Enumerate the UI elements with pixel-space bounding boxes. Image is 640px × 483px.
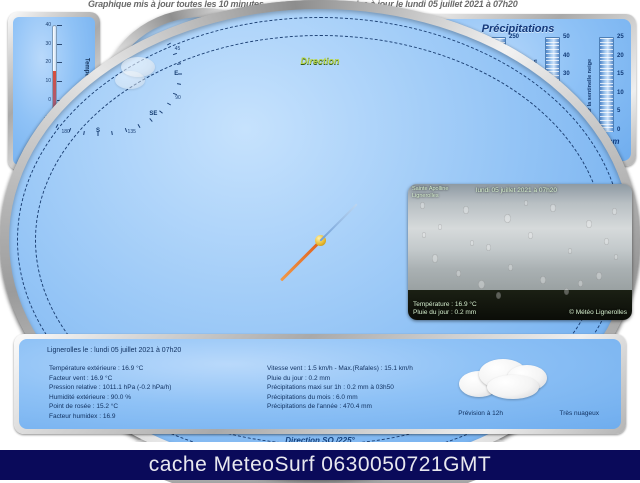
rain-drop: [463, 206, 469, 214]
cloud-icon: [487, 375, 539, 399]
rain-drop: [524, 200, 528, 206]
summary-line: Facteur vent : 16.9 °C: [49, 375, 112, 382]
precipitation-tick-label: 250: [509, 34, 519, 40]
rain-drop: [528, 232, 533, 239]
webcam-image[interactable]: Sainte Apolline Lignerolles lundi 05 jui…: [408, 184, 632, 320]
rain-drop: [612, 208, 617, 215]
forecast-cloud-icon: [459, 357, 549, 401]
precipitation-bar-track: [599, 37, 614, 132]
summary-line: Facteur humidex : 16.9: [49, 413, 115, 420]
cloud-icon: [75, 23, 102, 39]
rain-drop: [508, 264, 513, 271]
footer-text: cache MeteoSurf 0630050721GMT: [0, 453, 640, 477]
wind-title-right: Direction: [9, 56, 631, 66]
footer-spacer: [0, 442, 640, 450]
precipitation-tick-label: 50: [563, 34, 570, 40]
wind-direction-gauge[interactable]: NNEESESSOONO 04590135180225270315 Vent D…: [0, 148, 196, 296]
summary-line: Pression relative : 1011.1 hPa (-0.2 hPa…: [49, 384, 171, 391]
summary-info-panel[interactable]: Lignerolles le : lundi 05 juillet 2021 à…: [14, 334, 626, 434]
webcam-rain: Pluie du jour : 0.2 mm: [413, 309, 476, 316]
summary-line: Pluie du jour : 0.2 mm: [267, 375, 330, 382]
precipitation-tick-label: 0: [617, 127, 620, 133]
rain-drop: [496, 292, 501, 299]
rain-drop: [486, 244, 491, 251]
rain-drop: [596, 272, 602, 280]
rain-drop: [540, 276, 546, 284]
webcam-timestamp: lundi 05 juillet 2021 à 07h20: [476, 187, 557, 194]
precipitation-tick-label: 25: [617, 34, 624, 40]
cloud-icon: [115, 71, 145, 89]
forecast-label: Prévision à 12h: [458, 410, 503, 417]
webcam-station-name2: Lignerolles: [412, 193, 439, 199]
warning-triangle-icon: [37, 87, 51, 99]
webcam-temperature: Température : 16.9 °C: [413, 301, 477, 308]
precipitation-tick-label: 10: [617, 90, 624, 96]
summary-line: Point de rosée : 15.2 °C: [49, 403, 118, 410]
rain-drop: [504, 214, 511, 223]
precipitation-tick-label: 15: [617, 71, 624, 77]
rain-drop: [478, 280, 485, 289]
webcam-station-name: Sainte Apolline: [412, 186, 448, 192]
rain-drop: [432, 254, 438, 263]
rain-drop: [578, 280, 583, 287]
summary-line: Précipitations maxi sur 1h : 0.2 mm à 03…: [267, 384, 394, 391]
forecast-text: Très nuageux: [559, 410, 599, 417]
webcam-copyright: © Météo Lignerolles: [569, 309, 627, 316]
weather-dashboard: Graphique mis à jour toutes les 10 minut…: [0, 0, 640, 480]
rain-drop: [470, 240, 474, 246]
rain-drop: [420, 202, 425, 209]
rain-drop: [564, 288, 569, 295]
wind-title-left: Vent: [37, 46, 87, 55]
summary-line: Humidité extérieure : 90.0 %: [49, 394, 131, 401]
rain-drop: [422, 232, 426, 238]
rain-drop: [586, 220, 592, 228]
summary-line: Vitesse vent : 1.5 km/h - Max.(Rafales) …: [267, 365, 413, 372]
rain-drop: [568, 248, 572, 254]
rain-drop: [550, 204, 556, 212]
rain-drop: [604, 238, 609, 245]
rain-drop: [438, 224, 442, 230]
rain-drop: [456, 270, 461, 277]
precipitation-tick-label: 5: [617, 108, 620, 114]
summary-face: Lignerolles le : lundi 05 juillet 2021 à…: [19, 339, 621, 429]
summary-title: Lignerolles le : lundi 05 juillet 2021 à…: [47, 347, 181, 354]
footer-bar: cache MeteoSurf 0630050721GMT: [0, 450, 640, 480]
summary-line: Précipitations du mois : 6.0 mm: [267, 394, 358, 401]
rain-drop: [614, 254, 618, 260]
summary-line: Précipitations de l'année : 470.4 mm: [267, 403, 372, 410]
precipitation-tick-label: 30: [563, 71, 570, 77]
summary-line: Température extérieure : 16.9 °C: [49, 365, 143, 372]
